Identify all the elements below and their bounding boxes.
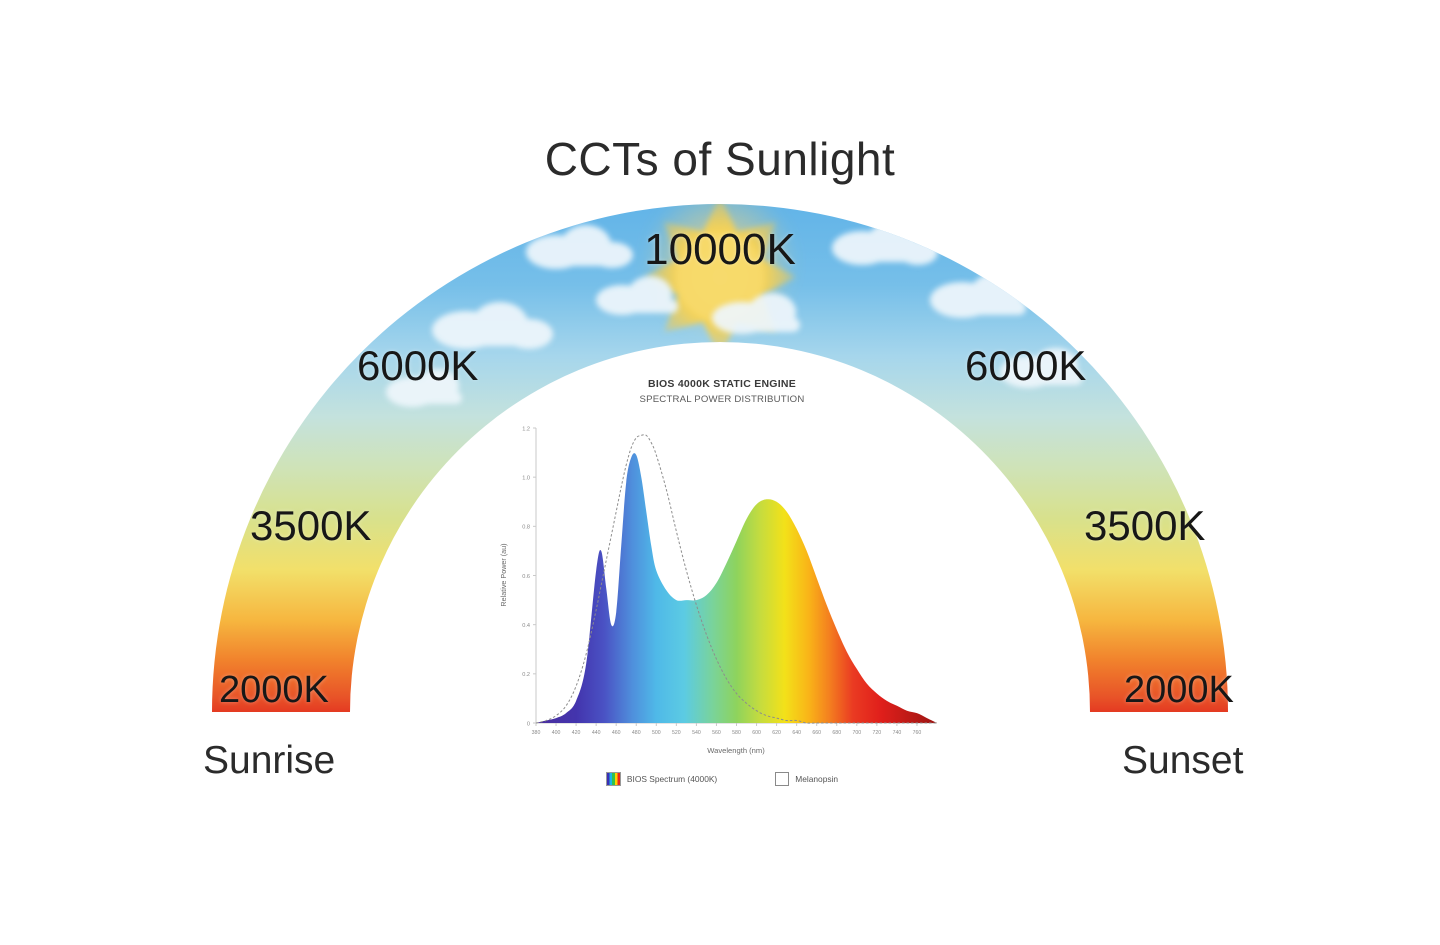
svg-text:0.2: 0.2 (522, 672, 530, 678)
svg-text:0.6: 0.6 (522, 574, 530, 580)
infographic-canvas: CCTs of Sunlight (0, 0, 1440, 945)
svg-text:660: 660 (812, 730, 821, 736)
svg-text:620: 620 (772, 730, 781, 736)
legend-item-melanopsin: Melanopsin (775, 772, 838, 786)
svg-text:440: 440 (592, 730, 601, 736)
bios-spectrum-area (536, 453, 937, 723)
x-axis-tick-labels: 3804004204404604805005205405605806006206… (532, 730, 922, 736)
svg-text:0: 0 (527, 721, 530, 727)
svg-text:1.2: 1.2 (522, 426, 530, 432)
svg-text:480: 480 (632, 730, 641, 736)
svg-text:640: 640 (792, 730, 801, 736)
sunset-label: Sunset (1122, 741, 1243, 780)
svg-text:580: 580 (732, 730, 741, 736)
svg-text:680: 680 (832, 730, 841, 736)
svg-text:500: 500 (652, 730, 661, 736)
svg-text:0.4: 0.4 (522, 623, 530, 629)
cct-label-6000k-left: 6000K (357, 345, 478, 387)
svg-text:600: 600 (752, 730, 761, 736)
cct-label-2000k-left: 2000K (219, 671, 329, 709)
sunrise-label: Sunrise (203, 741, 335, 780)
svg-text:740: 740 (893, 730, 902, 736)
svg-text:400: 400 (552, 730, 561, 736)
x-axis-title: Wavelength (nm) (707, 746, 765, 755)
melanopsin-swatch-icon (775, 772, 789, 786)
legend-item-bios-spectrum: BIOS Spectrum (4000K) (606, 772, 717, 786)
cct-label-10000k: 10000K (0, 228, 1440, 272)
svg-text:760: 760 (913, 730, 922, 736)
svg-text:560: 560 (712, 730, 721, 736)
cct-label-6000k-right: 6000K (965, 345, 1086, 387)
svg-text:700: 700 (852, 730, 861, 736)
cct-label-3500k-right: 3500K (1084, 505, 1205, 547)
svg-text:520: 520 (672, 730, 681, 736)
svg-text:0.8: 0.8 (522, 525, 530, 531)
spd-chart: BIOS 4000K STATIC ENGINE SPECTRAL POWER … (492, 370, 952, 800)
svg-text:540: 540 (692, 730, 701, 736)
spd-plot: 00.20.40.60.81.01.2 38040042044046048050… (492, 370, 952, 770)
cct-label-3500k-left: 3500K (250, 505, 371, 547)
svg-text:380: 380 (532, 730, 541, 736)
legend-label-melanopsin: Melanopsin (795, 774, 838, 784)
chart-legend: BIOS Spectrum (4000K) Melanopsin (492, 772, 952, 786)
cct-label-2000k-right: 2000K (1124, 671, 1234, 709)
legend-label-bios-spectrum: BIOS Spectrum (4000K) (627, 774, 717, 784)
svg-text:1.0: 1.0 (522, 475, 530, 481)
spectrum-swatch-icon (606, 772, 621, 786)
svg-text:420: 420 (572, 730, 581, 736)
svg-text:460: 460 (612, 730, 621, 736)
svg-text:720: 720 (873, 730, 882, 736)
y-axis-title: Relative Power (au) (499, 543, 508, 606)
y-axis-tick-labels: 00.20.40.60.81.01.2 (522, 426, 530, 727)
